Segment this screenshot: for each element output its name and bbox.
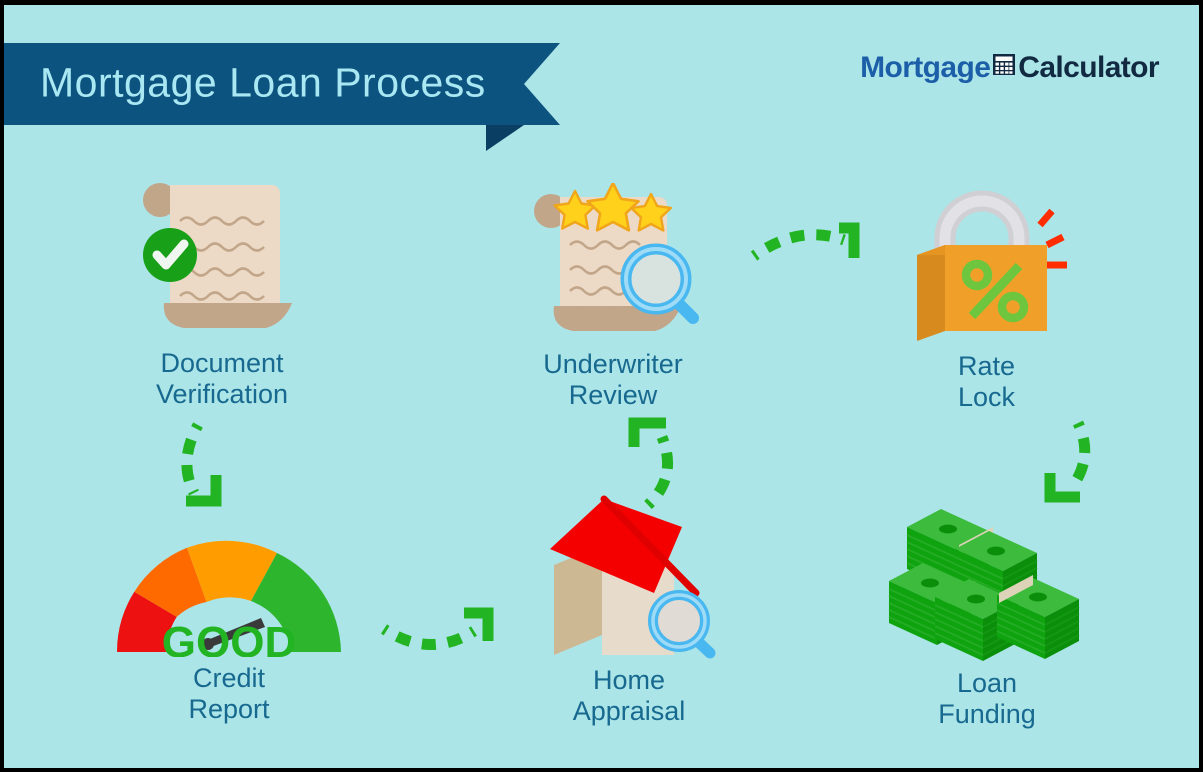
calculator-icon: [991, 51, 1017, 85]
document-check-icon: [122, 177, 322, 342]
logo-text-calculator: Calculator: [1018, 51, 1159, 85]
step-label: Credit Report: [104, 663, 354, 725]
banner-ribbon-fold: [486, 125, 524, 151]
brand-logo[interactable]: Mortgage: [860, 51, 1159, 85]
step-label: Document Verification: [92, 348, 352, 410]
step-document-verification[interactable]: Document Verification: [92, 177, 352, 410]
gauge-status-text: GOOD: [162, 618, 296, 657]
step-label: Home Appraisal: [514, 665, 744, 727]
arrow-docverification-to-creditreport: [164, 417, 249, 519]
step-label: Rate Lock: [884, 351, 1089, 413]
step-credit-report[interactable]: GOOD Credit Report: [104, 517, 354, 725]
arrow-ratelock-to-loanfunding: [1036, 415, 1121, 515]
step-home-appraisal[interactable]: Home Appraisal: [514, 487, 744, 727]
step-loan-funding[interactable]: Loan Funding: [882, 497, 1092, 730]
credit-gauge-icon: GOOD: [109, 517, 349, 657]
title-banner: Mortgage Loan Process: [4, 43, 524, 125]
page-title: Mortgage Loan Process: [40, 60, 486, 107]
document-stars-magnifier-icon: [513, 183, 713, 343]
step-rate-lock[interactable]: Rate Lock: [884, 183, 1089, 413]
padlock-percent-icon: [897, 183, 1077, 345]
arrow-creditreport-to-homeappraisal: [376, 597, 506, 667]
step-underwriter-review[interactable]: Underwriter Review: [498, 183, 728, 411]
step-label: Loan Funding: [882, 668, 1092, 730]
money-stacks-icon: [887, 497, 1087, 662]
infographic-canvas: Mortgage Loan Process Mortgage: [4, 5, 1199, 768]
banner-ribbon-tail: [524, 43, 560, 125]
arrow-homeappraisal-to-underwriter: [622, 413, 712, 513]
logo-text-mortgage: Mortgage: [860, 51, 990, 85]
step-label: Underwriter Review: [498, 349, 728, 411]
arrow-underwriter-to-ratelock: [744, 210, 874, 280]
